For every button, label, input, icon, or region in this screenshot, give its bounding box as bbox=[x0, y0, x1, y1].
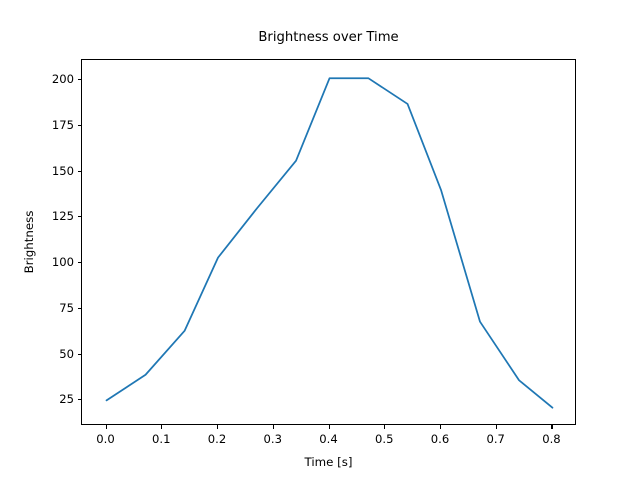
x-tick-mark bbox=[496, 425, 497, 429]
y-tick-label: 100 bbox=[52, 256, 74, 268]
x-tick-mark bbox=[106, 425, 107, 429]
y-tick-mark bbox=[78, 171, 82, 172]
x-tick-mark bbox=[217, 425, 218, 429]
y-tick-label: 200 bbox=[52, 73, 74, 85]
plot-area bbox=[81, 59, 576, 425]
y-tick-label: 125 bbox=[52, 210, 74, 222]
x-axis-label: Time [s] bbox=[81, 455, 576, 469]
x-tick-mark bbox=[273, 425, 274, 429]
y-tick-mark bbox=[78, 354, 82, 355]
x-tick-mark bbox=[384, 425, 385, 429]
x-tick-label: 0.8 bbox=[542, 433, 560, 445]
y-tick-mark bbox=[78, 79, 82, 80]
x-tick-mark bbox=[551, 425, 552, 429]
y-tick-mark bbox=[78, 262, 82, 263]
y-tick-label: 50 bbox=[59, 348, 74, 360]
x-tick-label: 0.6 bbox=[431, 433, 449, 445]
y-tick-label: 75 bbox=[59, 302, 74, 314]
chart-figure: Brightness over Time 2550751001251501752… bbox=[0, 0, 640, 480]
x-tick-label: 0.2 bbox=[208, 433, 226, 445]
y-tick-label: 175 bbox=[52, 119, 74, 131]
data-series-line bbox=[82, 60, 577, 426]
y-tick-mark bbox=[78, 399, 82, 400]
x-tick-label: 0.5 bbox=[375, 433, 393, 445]
x-tick-label: 0.7 bbox=[486, 433, 504, 445]
x-tick-mark bbox=[161, 425, 162, 429]
x-tick-label: 0.4 bbox=[319, 433, 337, 445]
y-tick-mark bbox=[78, 308, 82, 309]
x-tick-label: 0.3 bbox=[264, 433, 282, 445]
x-tick-label: 0.0 bbox=[96, 433, 114, 445]
y-axis-label: Brightness bbox=[22, 59, 38, 425]
x-tick-mark bbox=[329, 425, 330, 429]
chart-title: Brightness over Time bbox=[0, 30, 640, 46]
x-tick-mark bbox=[440, 425, 441, 429]
y-tick-label: 150 bbox=[52, 165, 74, 177]
x-tick-label: 0.1 bbox=[152, 433, 170, 445]
y-tick-mark bbox=[78, 216, 82, 217]
y-tick-label: 25 bbox=[59, 393, 74, 405]
y-tick-mark bbox=[78, 125, 82, 126]
